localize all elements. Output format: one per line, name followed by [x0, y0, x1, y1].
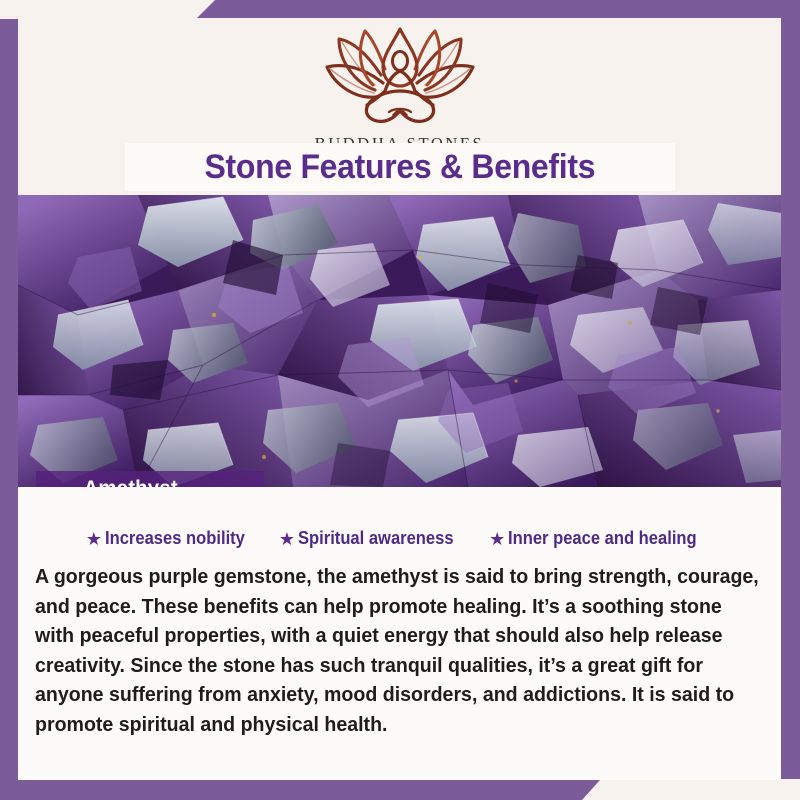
- content-card: BUDDHA STONES Stone Features & Benefits: [18, 19, 781, 780]
- star-icon: ★: [489, 530, 505, 548]
- benefit-item-1: ★ Increases nobility: [86, 528, 257, 549]
- benefit-item-2: ★ Spiritual awareness: [279, 528, 467, 549]
- benefit-label: Spiritual awareness: [298, 528, 454, 549]
- bottom-right-corner-notch: [781, 779, 800, 800]
- lotus-meditation-figure-icon: [309, 27, 491, 131]
- benefit-label: Increases nobility: [105, 528, 245, 549]
- right-purple-border: [781, 0, 800, 800]
- star-icon: ★: [279, 530, 295, 548]
- benefits-list: ★ Increases nobility ★ Spiritual awarene…: [18, 487, 781, 549]
- page-title: Stone Features & Benefits: [205, 148, 596, 187]
- stone-features-infographic: BUDDHA STONES Stone Features & Benefits: [0, 0, 800, 800]
- brand-header: BUDDHA STONES Stone Features & Benefits: [18, 19, 781, 195]
- top-left-corner-notch: [0, 0, 18, 19]
- star-icon: ★: [86, 530, 102, 548]
- bottom-purple-band: [0, 780, 800, 800]
- brand-logo: BUDDHA STONES: [18, 27, 781, 154]
- benefit-label: Inner peace and healing: [508, 528, 697, 549]
- stone-description-panel: ★ Increases nobility ★ Spiritual awarene…: [18, 487, 781, 780]
- left-purple-border: [0, 0, 18, 800]
- benefit-item-3: ★ Inner peace and healing: [489, 528, 713, 549]
- amethyst-crystal-cluster-graphic: [18, 195, 781, 487]
- amethyst-photo: [18, 195, 781, 487]
- stone-description-text: A gorgeous purple gemstone, the amethyst…: [35, 562, 761, 739]
- top-purple-band: [0, 0, 800, 18]
- page-title-banner: Stone Features & Benefits: [125, 143, 675, 191]
